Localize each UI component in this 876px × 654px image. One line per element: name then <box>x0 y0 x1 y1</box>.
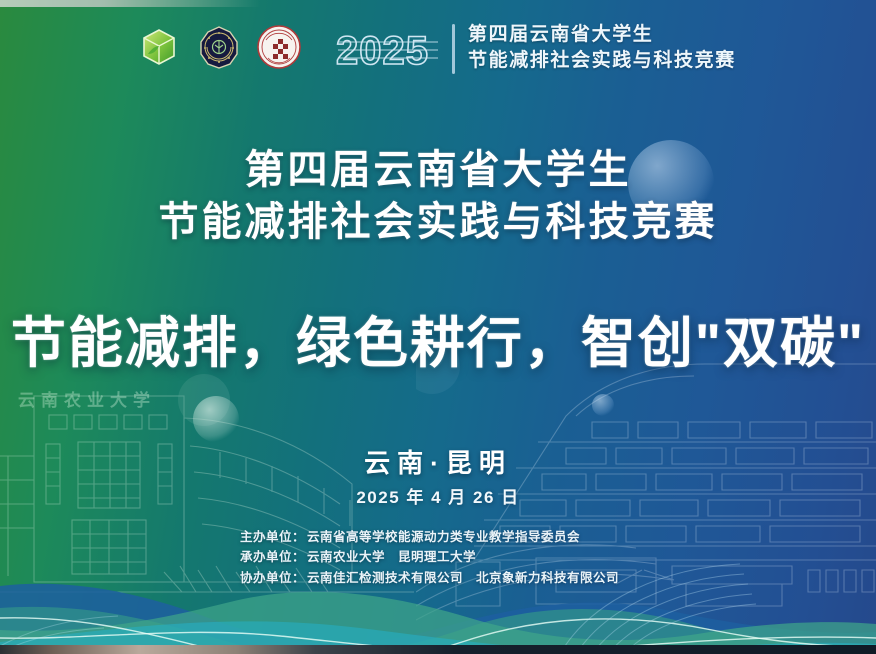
main-title-line1: 第四届云南省大学生 <box>0 144 876 196</box>
place-text: 云南·昆明 <box>0 443 876 480</box>
organizer-list: 主办单位：云南省高等学校能源动力类专业教学指导委员会 承办单位：云南农业大学 昆… <box>240 527 876 588</box>
kunming-university-of-science-and-technology-seal <box>256 24 302 70</box>
conference-banner: 云南农业大学 <box>0 0 876 654</box>
banner-header: 2025 第四届云南省大学生 节能减排社会实践与科技竞赛 <box>0 8 876 82</box>
organizer-value: 云南农业大学 昆明理工大学 <box>307 550 476 564</box>
bottom-photo-edge <box>0 645 876 654</box>
header-subtitle-line2: 节能减排社会实践与科技竞赛 <box>468 48 736 74</box>
organizer-label: 承办单位： <box>240 550 305 564</box>
logo-row <box>136 24 302 70</box>
organizer-row: 主办单位：云南省高等学校能源动力类专业教学指导委员会 <box>240 527 876 547</box>
organizer-value: 云南省高等学校能源动力类专业教学指导委员会 <box>307 530 580 544</box>
date-text: 2025 年 4 月 26 日 <box>0 483 876 508</box>
main-title-line2: 节能减排社会实践与科技竞赛 <box>0 196 876 248</box>
organizer-label: 协办单位： <box>240 571 305 585</box>
yunnan-agricultural-university-seal <box>196 24 242 70</box>
organizer-row: 承办单位：云南农业大学 昆明理工大学 <box>240 547 876 567</box>
slogan-text: 节能减排，绿色耕行，智创"双碳" <box>0 298 876 378</box>
organizer-row: 协办单位：云南佳汇检测技术有限公司 北京象新力科技有限公司 <box>240 568 876 588</box>
decorative-bubble-medium <box>193 396 239 442</box>
header-divider <box>452 24 455 74</box>
organizer-value: 云南佳汇检测技术有限公司 北京象新力科技有限公司 <box>307 571 619 585</box>
main-title: 第四届云南省大学生 节能减排社会实践与科技竞赛 <box>0 144 876 248</box>
decorative-bubble-small <box>592 394 614 416</box>
header-subtitle-line1: 第四届云南省大学生 <box>468 22 736 48</box>
organizer-label: 主办单位： <box>240 530 305 544</box>
leaf-cube-logo <box>136 24 182 70</box>
year-2025-graphic: 2025 <box>336 28 440 72</box>
campus-watermark-text: 云南农业大学 <box>18 386 156 411</box>
top-photo-edge <box>0 0 260 7</box>
header-subtitle: 第四届云南省大学生 节能减排社会实践与科技竞赛 <box>468 22 736 74</box>
